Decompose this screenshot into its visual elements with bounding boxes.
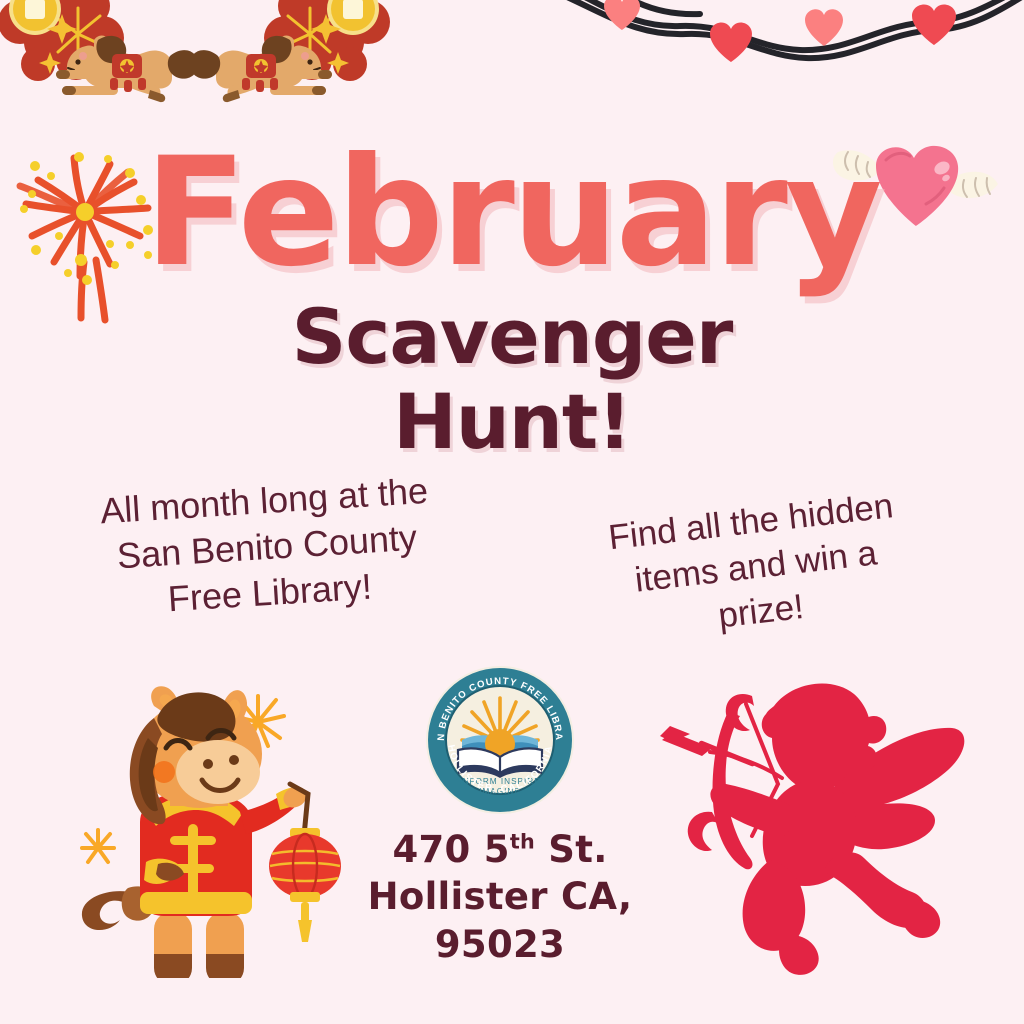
gold-coin-right bbox=[327, 0, 379, 35]
horse-decor-right bbox=[190, 0, 390, 102]
address-street-number: 470 5 bbox=[392, 828, 509, 871]
leaping-horse-right bbox=[190, 36, 332, 103]
address-city-state: Hollister CA, bbox=[300, 873, 700, 920]
copy-block-left: All month long at the San Benito County … bbox=[48, 465, 486, 630]
library-logo-seal: INFORM INSPIRE IMAGINE SAN BENITO COUNTY… bbox=[424, 664, 576, 816]
poster-canvas: February Scavenger Hunt! All month long … bbox=[0, 0, 1024, 1024]
cupid-silhouette-icon bbox=[656, 664, 976, 980]
logo-arc-top-text: SAN BENITO COUNTY FREE LIBRARY bbox=[424, 664, 564, 741]
heart-string-lights-garland bbox=[560, 0, 1024, 98]
copy-block-right: Find all the hidden items and win a priz… bbox=[550, 478, 963, 657]
gold-coin-left bbox=[9, 0, 61, 35]
subtitle-line-hunt: Hunt! bbox=[0, 379, 1024, 464]
heart-light bbox=[805, 9, 843, 46]
address-zip: 95023 bbox=[300, 921, 700, 968]
address-street-line: 470 5th St. bbox=[300, 826, 700, 873]
heart-light bbox=[604, 0, 640, 30]
address-street-name: St. bbox=[535, 828, 607, 871]
leaping-horse-left bbox=[56, 36, 198, 103]
horse-decor-left bbox=[0, 0, 198, 102]
heart-light bbox=[710, 23, 752, 62]
logo-motto-line-2: IMAGINE bbox=[479, 787, 521, 796]
logo-motto-line-1: INFORM INSPIRE bbox=[459, 777, 540, 786]
subtitle-line-scavenger: Scavenger bbox=[292, 292, 733, 381]
logo-arc-bottom-text: HOLLISTER, CALIFORNIA bbox=[445, 744, 555, 795]
address-block: 470 5th St. Hollister CA, 95023 bbox=[300, 826, 700, 968]
address-street-ordinal: th bbox=[510, 830, 535, 854]
heart-light bbox=[912, 5, 956, 45]
lunar-new-year-horses-banner bbox=[0, 0, 394, 116]
page-title-february: February bbox=[0, 138, 1024, 288]
page-subtitle-scavenger-hunt: Scavenger Hunt! bbox=[0, 294, 1024, 464]
